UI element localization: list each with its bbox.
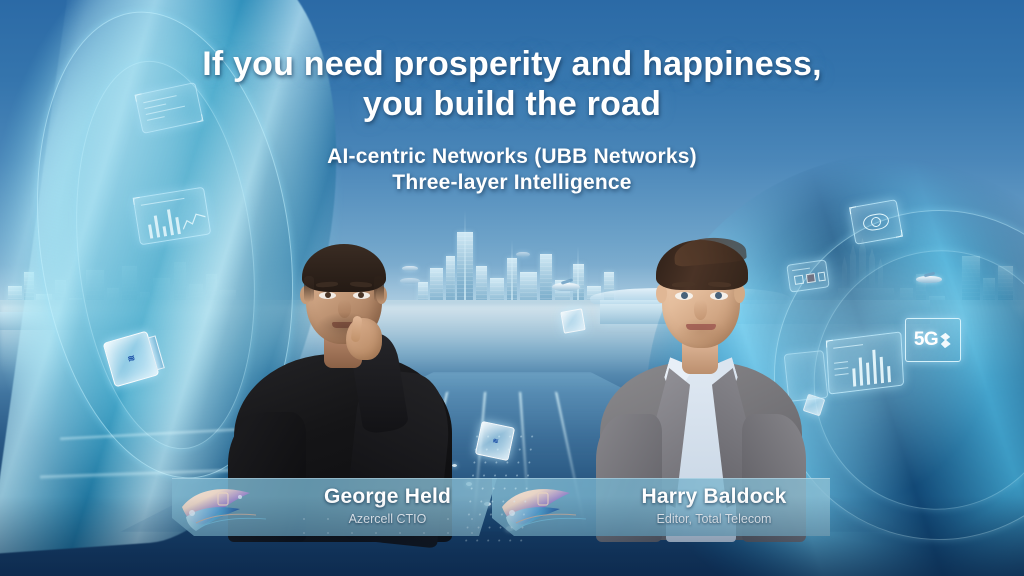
badge-5g[interactable]: 5G <box>905 318 961 362</box>
flying-vehicle-skyline <box>516 252 530 257</box>
signal-icon <box>939 332 952 349</box>
bottom-vignette <box>0 496 1024 576</box>
hud-panel-bar-chart[interactable] <box>826 331 904 394</box>
slide-title-line1: If you need prosperity and happiness, <box>0 44 1024 84</box>
slide-subtitle: AI-centric Networks (UBB Networks) Three… <box>0 144 1024 197</box>
slide-subtitle-line2: Three-layer Intelligence <box>0 170 1024 196</box>
george-sideburn-right <box>374 276 384 302</box>
george-pupil-left <box>325 292 331 298</box>
badge-5g-label: 5G <box>914 329 938 351</box>
slide-title-line2: you build the road <box>0 84 1024 124</box>
george-sideburn-left <box>304 276 314 302</box>
eye-scanner-icon <box>862 212 890 232</box>
title-block: If you need prosperity and happiness, yo… <box>0 44 1024 197</box>
george-pupil-right <box>358 292 364 298</box>
harry-pupil-left <box>681 292 688 299</box>
flying-vehicle-center <box>552 283 580 291</box>
harry-chin-shadow <box>676 318 726 344</box>
flying-vehicle-right <box>916 276 942 283</box>
harry-pupil-right <box>715 292 722 299</box>
slide-subtitle-line1: AI-centric Networks (UBB Networks) <box>0 144 1024 170</box>
slide-canvas: ≋ ≋ <box>0 0 1024 576</box>
harry-nose <box>694 300 707 320</box>
data-cube-skyline <box>560 308 585 333</box>
slide-title: If you need prosperity and happiness, yo… <box>0 44 1024 124</box>
